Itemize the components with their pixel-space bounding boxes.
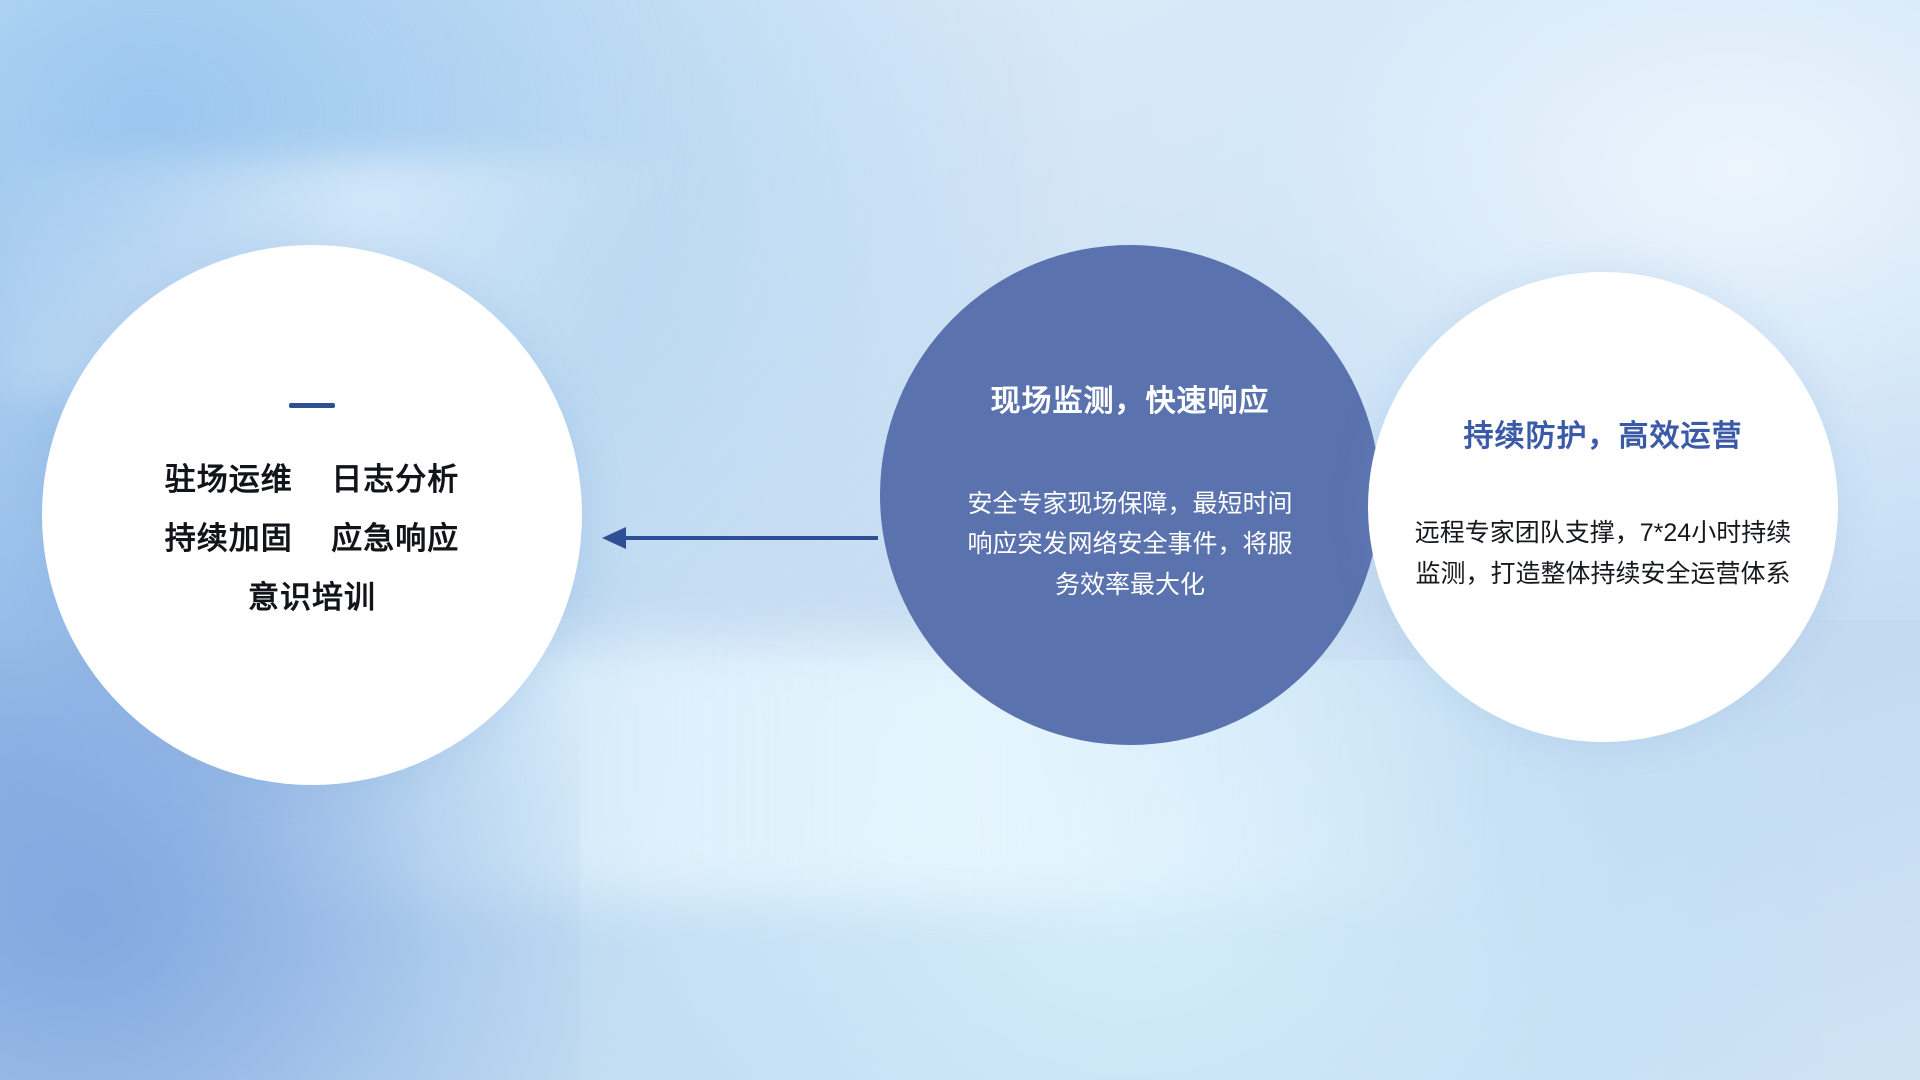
left-capability-circle: 驻场运维 日志分析 持续加固 应急响应 意识培训 xyxy=(42,245,582,785)
left-circle-line-2: 持续加固 应急响应 xyxy=(165,523,459,554)
left-circle-line-3: 意识培训 xyxy=(248,582,376,613)
right-circle-body: 远程专家团队支撑，7*24小时持续监测，打造整体持续安全运营体系 xyxy=(1403,513,1803,594)
diagram-stage: 驻场运维 日志分析 持续加固 应急响应 意识培训 现场监测，快速响应 安全专家现… xyxy=(0,0,1920,1080)
middle-onsite-circle: 现场监测，快速响应 安全专家现场保障，最短时间响应突发网络安全事件，将服务效率最… xyxy=(880,245,1380,745)
dash-divider-icon xyxy=(289,403,335,408)
middle-circle-body: 安全专家现场保障，最短时间响应突发网络安全事件，将服务效率最大化 xyxy=(965,484,1295,606)
left-circle-line-1: 驻场运维 日志分析 xyxy=(165,464,459,495)
leftward-arrow-icon xyxy=(600,520,880,556)
middle-circle-title: 现场监测，快速响应 xyxy=(991,385,1270,418)
flow-arrow xyxy=(600,520,880,556)
right-operations-circle: 持续防护，高效运营 远程专家团队支撑，7*24小时持续监测，打造整体持续安全运营… xyxy=(1368,272,1838,742)
right-circle-title: 持续防护，高效运营 xyxy=(1464,420,1743,453)
